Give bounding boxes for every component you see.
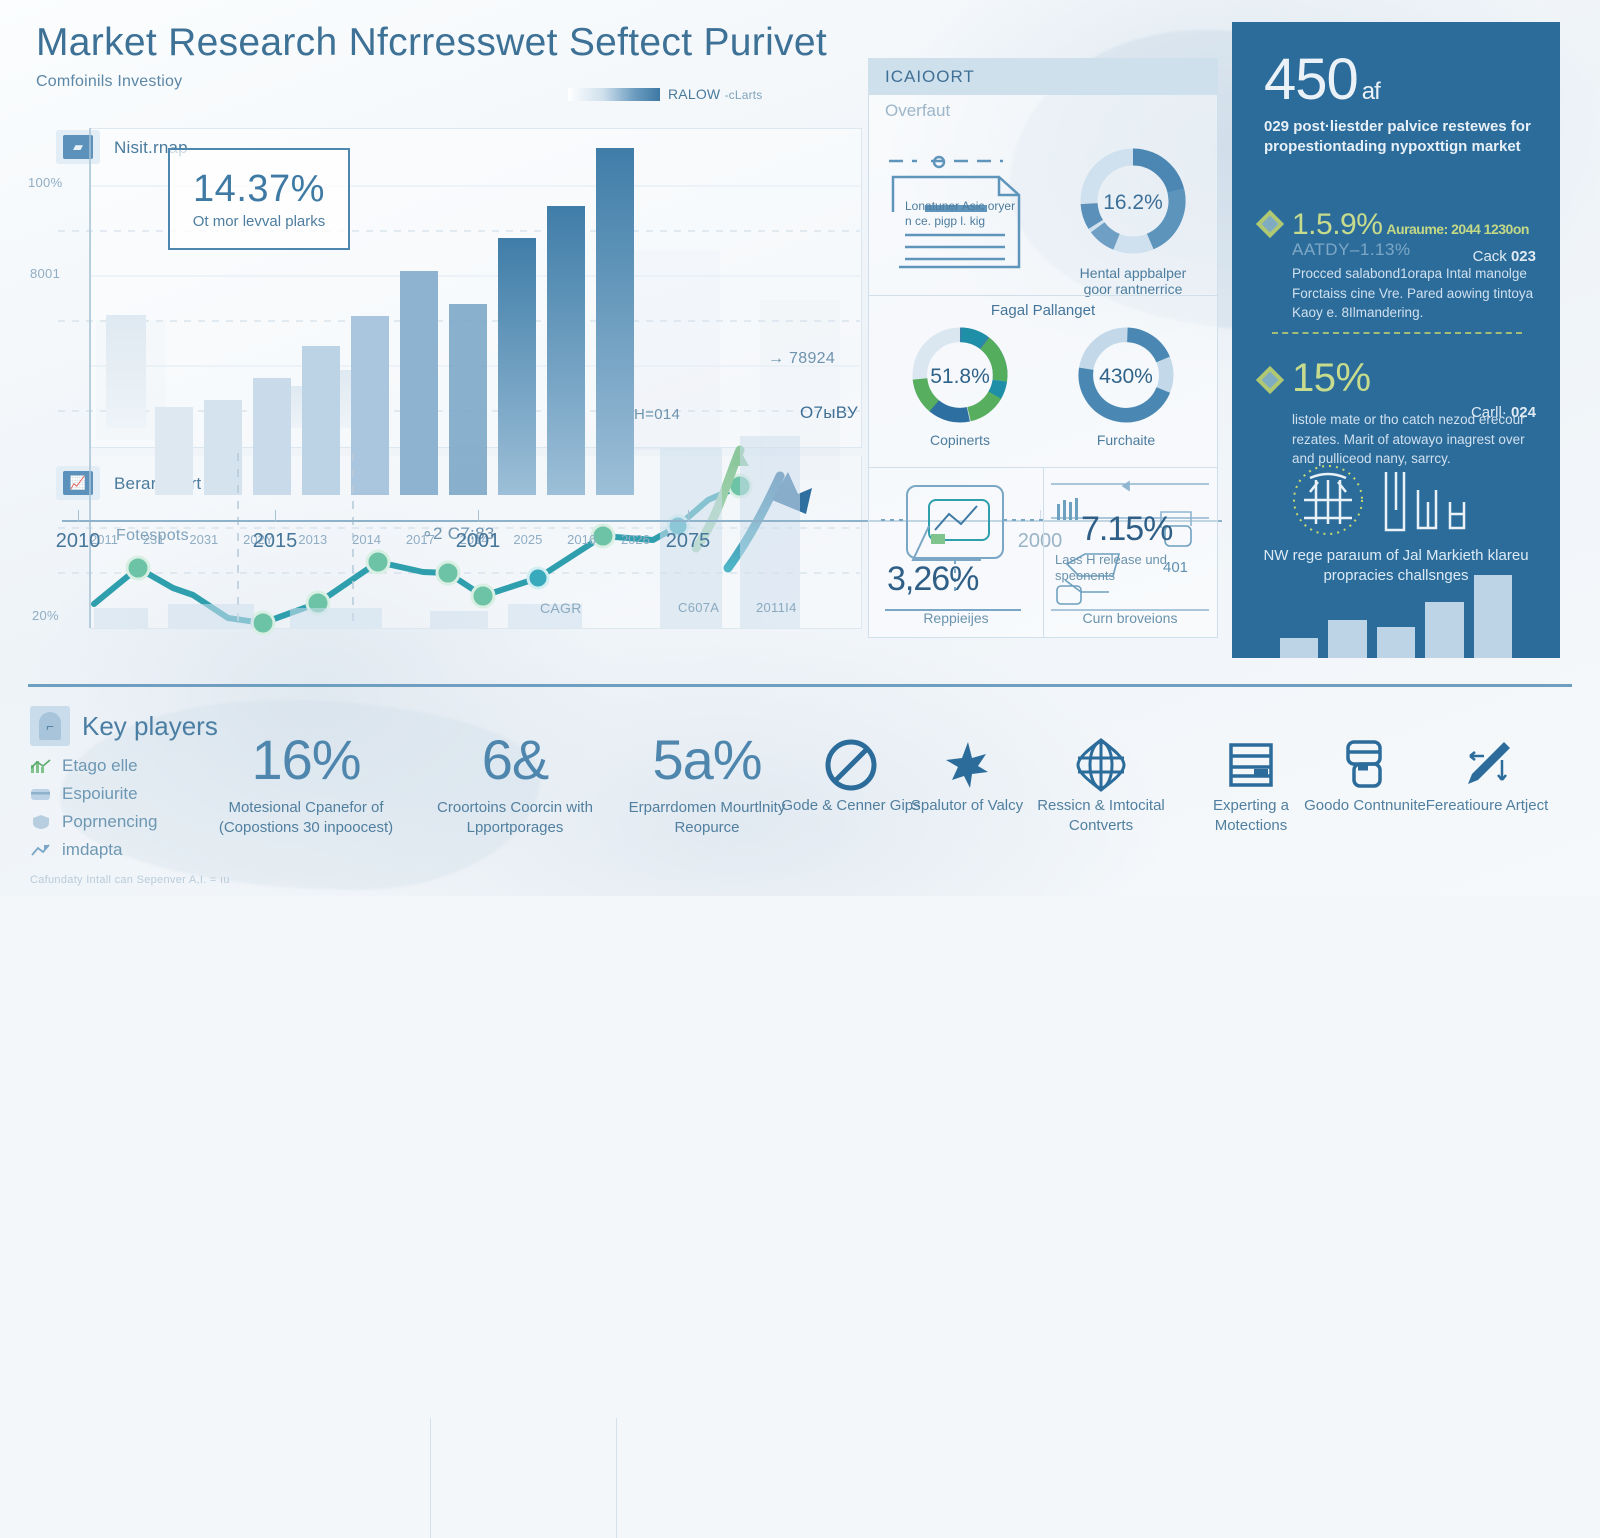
donut-pair-title: Fagal Pallanget [869, 296, 1217, 319]
kpi1-right-label-pre: Cack [1473, 248, 1507, 265]
bar-axis-tick: 2031 [189, 532, 218, 547]
callout-value: 14.37% [193, 168, 325, 211]
star-burst-icon [892, 734, 1042, 796]
bottom-icon-6-label: Fereatioure Artject [1412, 796, 1562, 816]
mini-stat-left-caption: Reppieijes [869, 610, 1043, 626]
legend-gradient-swatch [568, 88, 660, 101]
donut-right-chart: 430% [1073, 322, 1179, 428]
stat-divider [616, 1418, 617, 1538]
donut-left-caption: Copinerts [930, 432, 990, 448]
kpi1-right-label: Cack 023 [1473, 248, 1536, 265]
highlights-bar [1474, 575, 1512, 658]
card-icon [30, 786, 52, 802]
legend-label-text: RALOW [668, 86, 720, 102]
bottom-icon-3[interactable]: Ressicn & Imtocital Contverts [1026, 734, 1176, 835]
inline-label-2: 2011I4 [756, 600, 797, 615]
highlights-panel: 450af 029 post·liestder palvice restewes… [1232, 22, 1560, 658]
axis-tick-mark [478, 510, 479, 522]
bottom-stat-3-caption: Erparrdomen Mourtlnity Reopurce [612, 798, 802, 837]
kpi2-right-label: Carll· 024 [1471, 404, 1536, 421]
green-arrow-label: → 78924 [768, 350, 835, 368]
highlights-bar [1280, 638, 1318, 658]
kpi1-right-label-bold: 023 [1511, 248, 1536, 265]
line-series-label: Fotespots [116, 527, 189, 545]
bottom-stat-3: 5a% Erparrdomen Mourtlnity Reopurce [612, 732, 802, 837]
kpi1-percent-note: Auraume: 2044 1230on [1386, 221, 1529, 237]
inline-label-cagr: CAGR [540, 600, 582, 616]
blue-arrow-label: O7ыВУ [800, 403, 858, 423]
section-rule [28, 684, 1572, 687]
legend-label: RALOW -cLarts [668, 86, 763, 102]
award-and-bars-icon [1246, 462, 1546, 538]
bottom-stat-1-caption: Motesional Cpanefor of (Copostions 30 in… [196, 798, 416, 837]
key-players-item-label: Etago elle [62, 756, 138, 776]
headline-callout: 14.37% Ot mor levval plarks [168, 148, 350, 250]
legend: RALOW -cLarts [568, 86, 763, 102]
mini-stat-left-value: 3,26% [887, 560, 978, 599]
bar-axis-tick: 2026 [621, 532, 650, 547]
svg-text:430%: 430% [1099, 365, 1153, 388]
stat-divider [430, 1418, 431, 1538]
diamond-icon [1256, 210, 1284, 238]
bottom-icon-2[interactable]: Spalutor of Valcy [892, 734, 1042, 816]
highlights-bar [1377, 627, 1415, 658]
mini-stat-right-value: 7.15% [1081, 510, 1172, 549]
arrow-chart-icon [30, 842, 52, 858]
chart-svg [28, 118, 862, 636]
svg-text:51.8%: 51.8% [930, 365, 990, 388]
key-players-item-label: Poprnencing [62, 812, 157, 832]
bookmark-icon: ⌐ [30, 706, 70, 746]
bar-spark-icon [30, 758, 52, 774]
chart-zone: ▰ 📈 Nisit.rnap Berar gdart 100% 8001 20% [28, 118, 862, 636]
bottom-stat-1: 16% Motesional Cpanefor of (Copostions 3… [196, 732, 416, 837]
bottom-icon-6[interactable]: Fereatioure Artject [1412, 734, 1562, 816]
highlights-bar [1328, 620, 1366, 658]
globe-grid-icon [1026, 734, 1176, 796]
bottom-stat-3-value: 5a% [612, 732, 802, 788]
key-players-item[interactable]: imdapta [30, 840, 230, 860]
key-players-item-label: imdapta [62, 840, 122, 860]
callout-caption: Ot mor levval plarks [193, 213, 326, 230]
document-sketch-text: Lonatuner Asic oryer n ce. pigp l. kig [905, 199, 1017, 229]
hero-number: 450af [1264, 52, 1532, 107]
report-section-two: Fagal Pallanget 51.8% Copinerts [869, 295, 1217, 468]
axis-tick-label: 2075 [666, 530, 711, 553]
axis-tick-label: 2001 [456, 530, 501, 553]
bar-axis-tick: 2025 [513, 532, 542, 547]
donut-main: 16.2% Hental appbalper goor rantnerrice [1067, 143, 1199, 297]
donut-right: 430% Furchaite [1051, 322, 1201, 448]
highlights-bar [1425, 602, 1463, 658]
mini-stat-right-note: Lass H release und speonents [1055, 552, 1185, 585]
donut-main-chart: 16.2% [1075, 143, 1191, 259]
highlights-bar-chart [1280, 568, 1512, 658]
kpi1-percent: 1.5.9%Auraume: 2044 1230on [1292, 210, 1536, 240]
pen-tool-icon [1412, 734, 1562, 796]
bar-axis-tick: 2014 [352, 532, 381, 547]
mini-stat-right-caption: Curn broveions [1043, 610, 1217, 626]
axis-tick-mark [275, 510, 276, 522]
page-title: Market Research Nfcrresswet Seftect Puri… [36, 22, 827, 65]
bottom-strip: ⌐ Key players Etago elleEspoiuritePoprne… [0, 692, 1600, 896]
donut-left: 51.8% Copinerts [885, 322, 1035, 448]
hero-unit: af [1362, 78, 1380, 105]
kpi1-body: Procced salabond1orapa Intal manolge For… [1292, 264, 1536, 323]
shield-icon [30, 814, 52, 830]
key-players-item-label: Espoiurite [62, 784, 138, 804]
kpi-item-2: 15% Carll· 024 listole mate or tho catch… [1260, 358, 1536, 469]
bar-annotation-mid: H=014 [634, 406, 680, 423]
kpi2-right-label-pre: Carll· [1471, 404, 1507, 421]
fine-print: Cafundaty Intall can Sepenver A,I. = ıu [30, 874, 230, 886]
kpi-item-1: 1.5.9%Auraume: 2044 1230on AATDY–1.13% C… [1260, 210, 1536, 323]
bar-axis-tick: 2013 [298, 532, 327, 547]
hero-stat: 450af 029 post·liestder palvice restewes… [1264, 52, 1532, 158]
bottom-stat-2-value: 6& [420, 732, 610, 788]
bottom-stat-2-caption: Croortoins Coorcin with Lpportporages [420, 798, 610, 837]
inline-label-1: C607A [678, 600, 719, 615]
bottom-icon-3-label: Ressicn & Imtocital Contverts [1026, 796, 1176, 835]
infographic-page: Market Research Nfcrresswet Seftect Puri… [0, 0, 1600, 896]
donut-left-chart: 51.8% [907, 322, 1013, 428]
axis-tick-label: 2015 [253, 530, 298, 553]
bottom-icon-2-label: Spalutor of Valcy [892, 796, 1042, 816]
report-panel: ICAIOORT Overfaut Lonatuner Asic oryer n… [868, 58, 1218, 638]
bottom-stat-2: 6& Croortoins Coorcin with Lpportporages [420, 732, 610, 837]
donut-main-caption: Hental appbalper goor rantnerrice [1067, 265, 1199, 297]
svg-text:16.2%: 16.2% [1103, 191, 1163, 214]
kpi2-right-label-bold: 024 [1511, 404, 1536, 421]
donut-right-caption: Furchaite [1097, 432, 1155, 448]
page-header: Market Research Nfcrresswet Seftect Puri… [36, 22, 827, 91]
legend-sub-text: -cLarts [724, 88, 762, 102]
report-section-three: 3,26% Reppieijes 401 [869, 467, 1217, 638]
axis-tick-mark [78, 510, 79, 522]
bar-axis-tick: 2016 [567, 532, 596, 547]
bottom-stat-1-value: 16% [196, 732, 416, 788]
report-panel-heading: ICAIOORT [869, 59, 1217, 95]
kpi2-percent: 15% [1292, 358, 1536, 398]
hero-description: 029 post·liestder palvice restewes for p… [1264, 117, 1532, 158]
axis-tick-mark [688, 510, 689, 522]
kpi-divider [1272, 332, 1522, 334]
axis-tick-label: 2010 [56, 530, 101, 553]
diamond-icon [1256, 366, 1284, 394]
